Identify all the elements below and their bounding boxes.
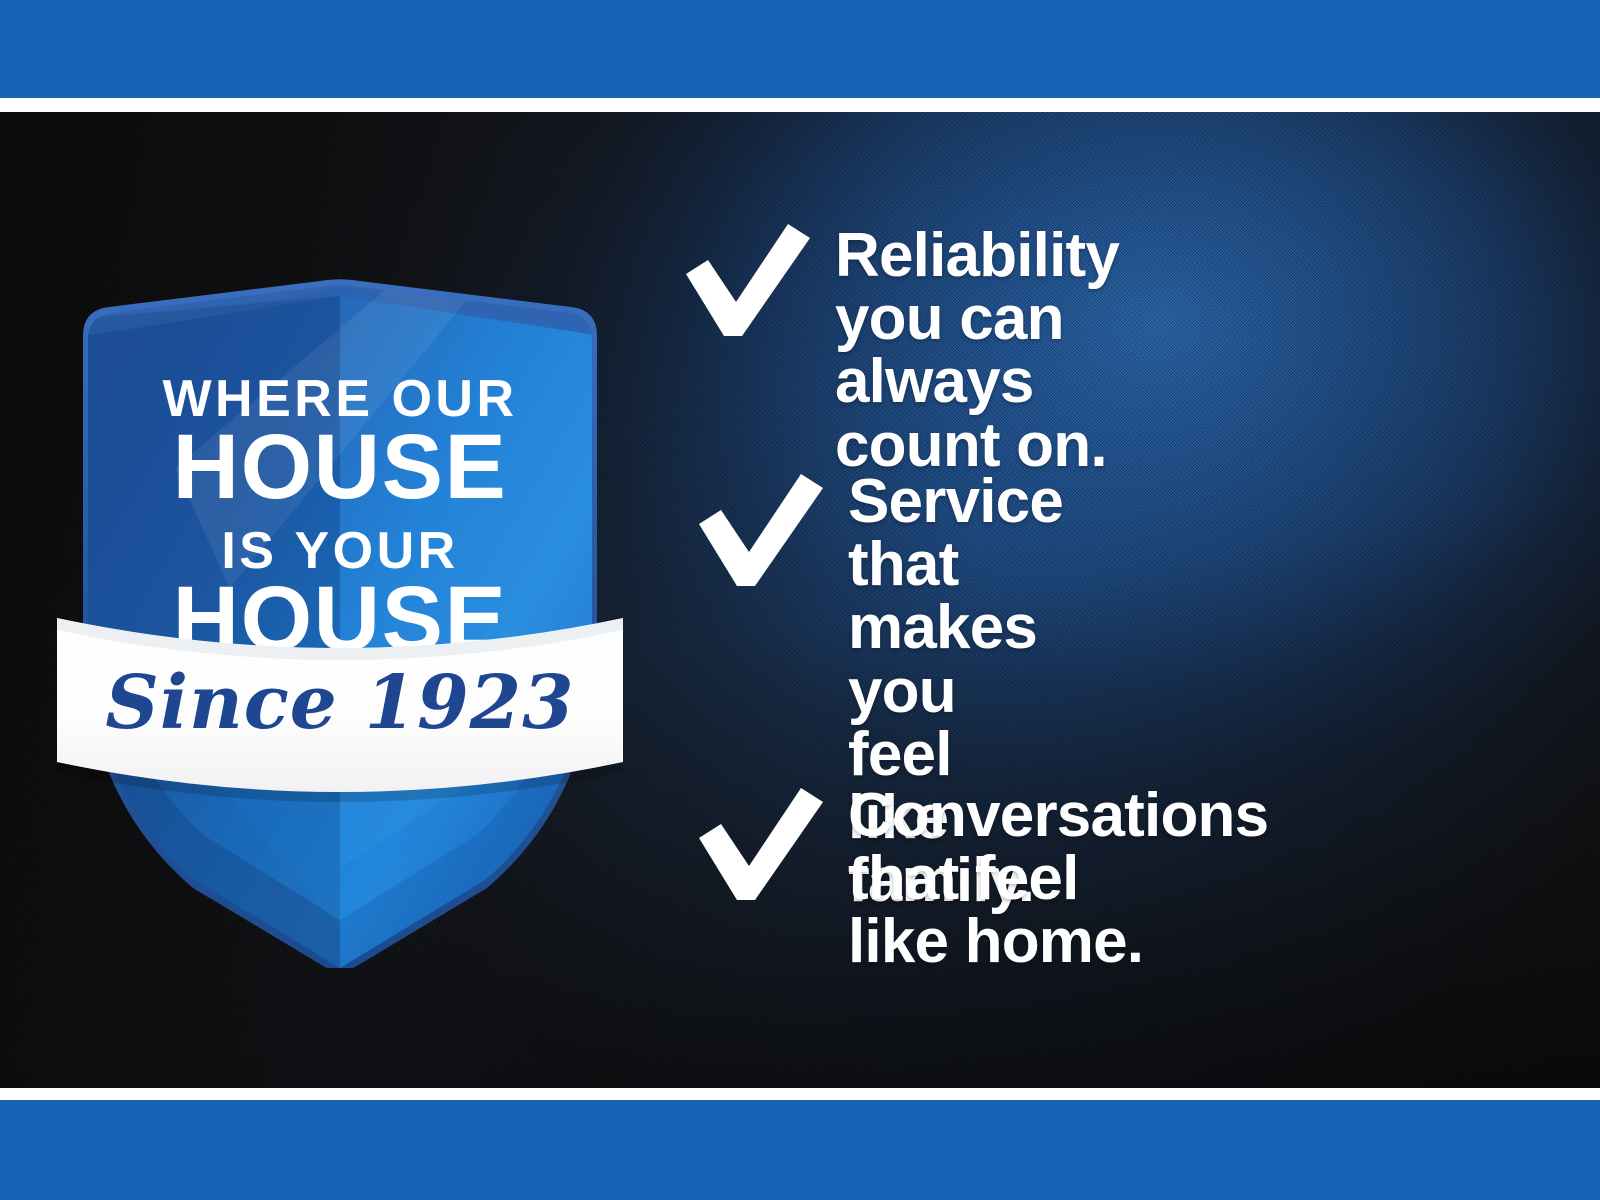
checkmark-icon — [673, 782, 823, 902]
logo-ribbon-text: Since 1923 — [105, 660, 574, 746]
promo-poster: WHERE OUR HOUSE IS YOUR HOUSE Since 1923 — [0, 0, 1600, 1200]
top-brand-bar — [0, 0, 1600, 98]
checkmark-icon — [660, 218, 810, 338]
checkmark-icon — [673, 468, 823, 588]
checklist-item-text: Conversations that feel like home. — [848, 784, 1268, 974]
logo-line-2: HOUSE — [173, 416, 508, 518]
bottom-brand-bar — [0, 1100, 1600, 1200]
checklist-item-text: Reliability you can always count on. — [835, 224, 1119, 477]
shield-logo: WHERE OUR HOUSE IS YOUR HOUSE Since 1923 — [55, 168, 635, 968]
